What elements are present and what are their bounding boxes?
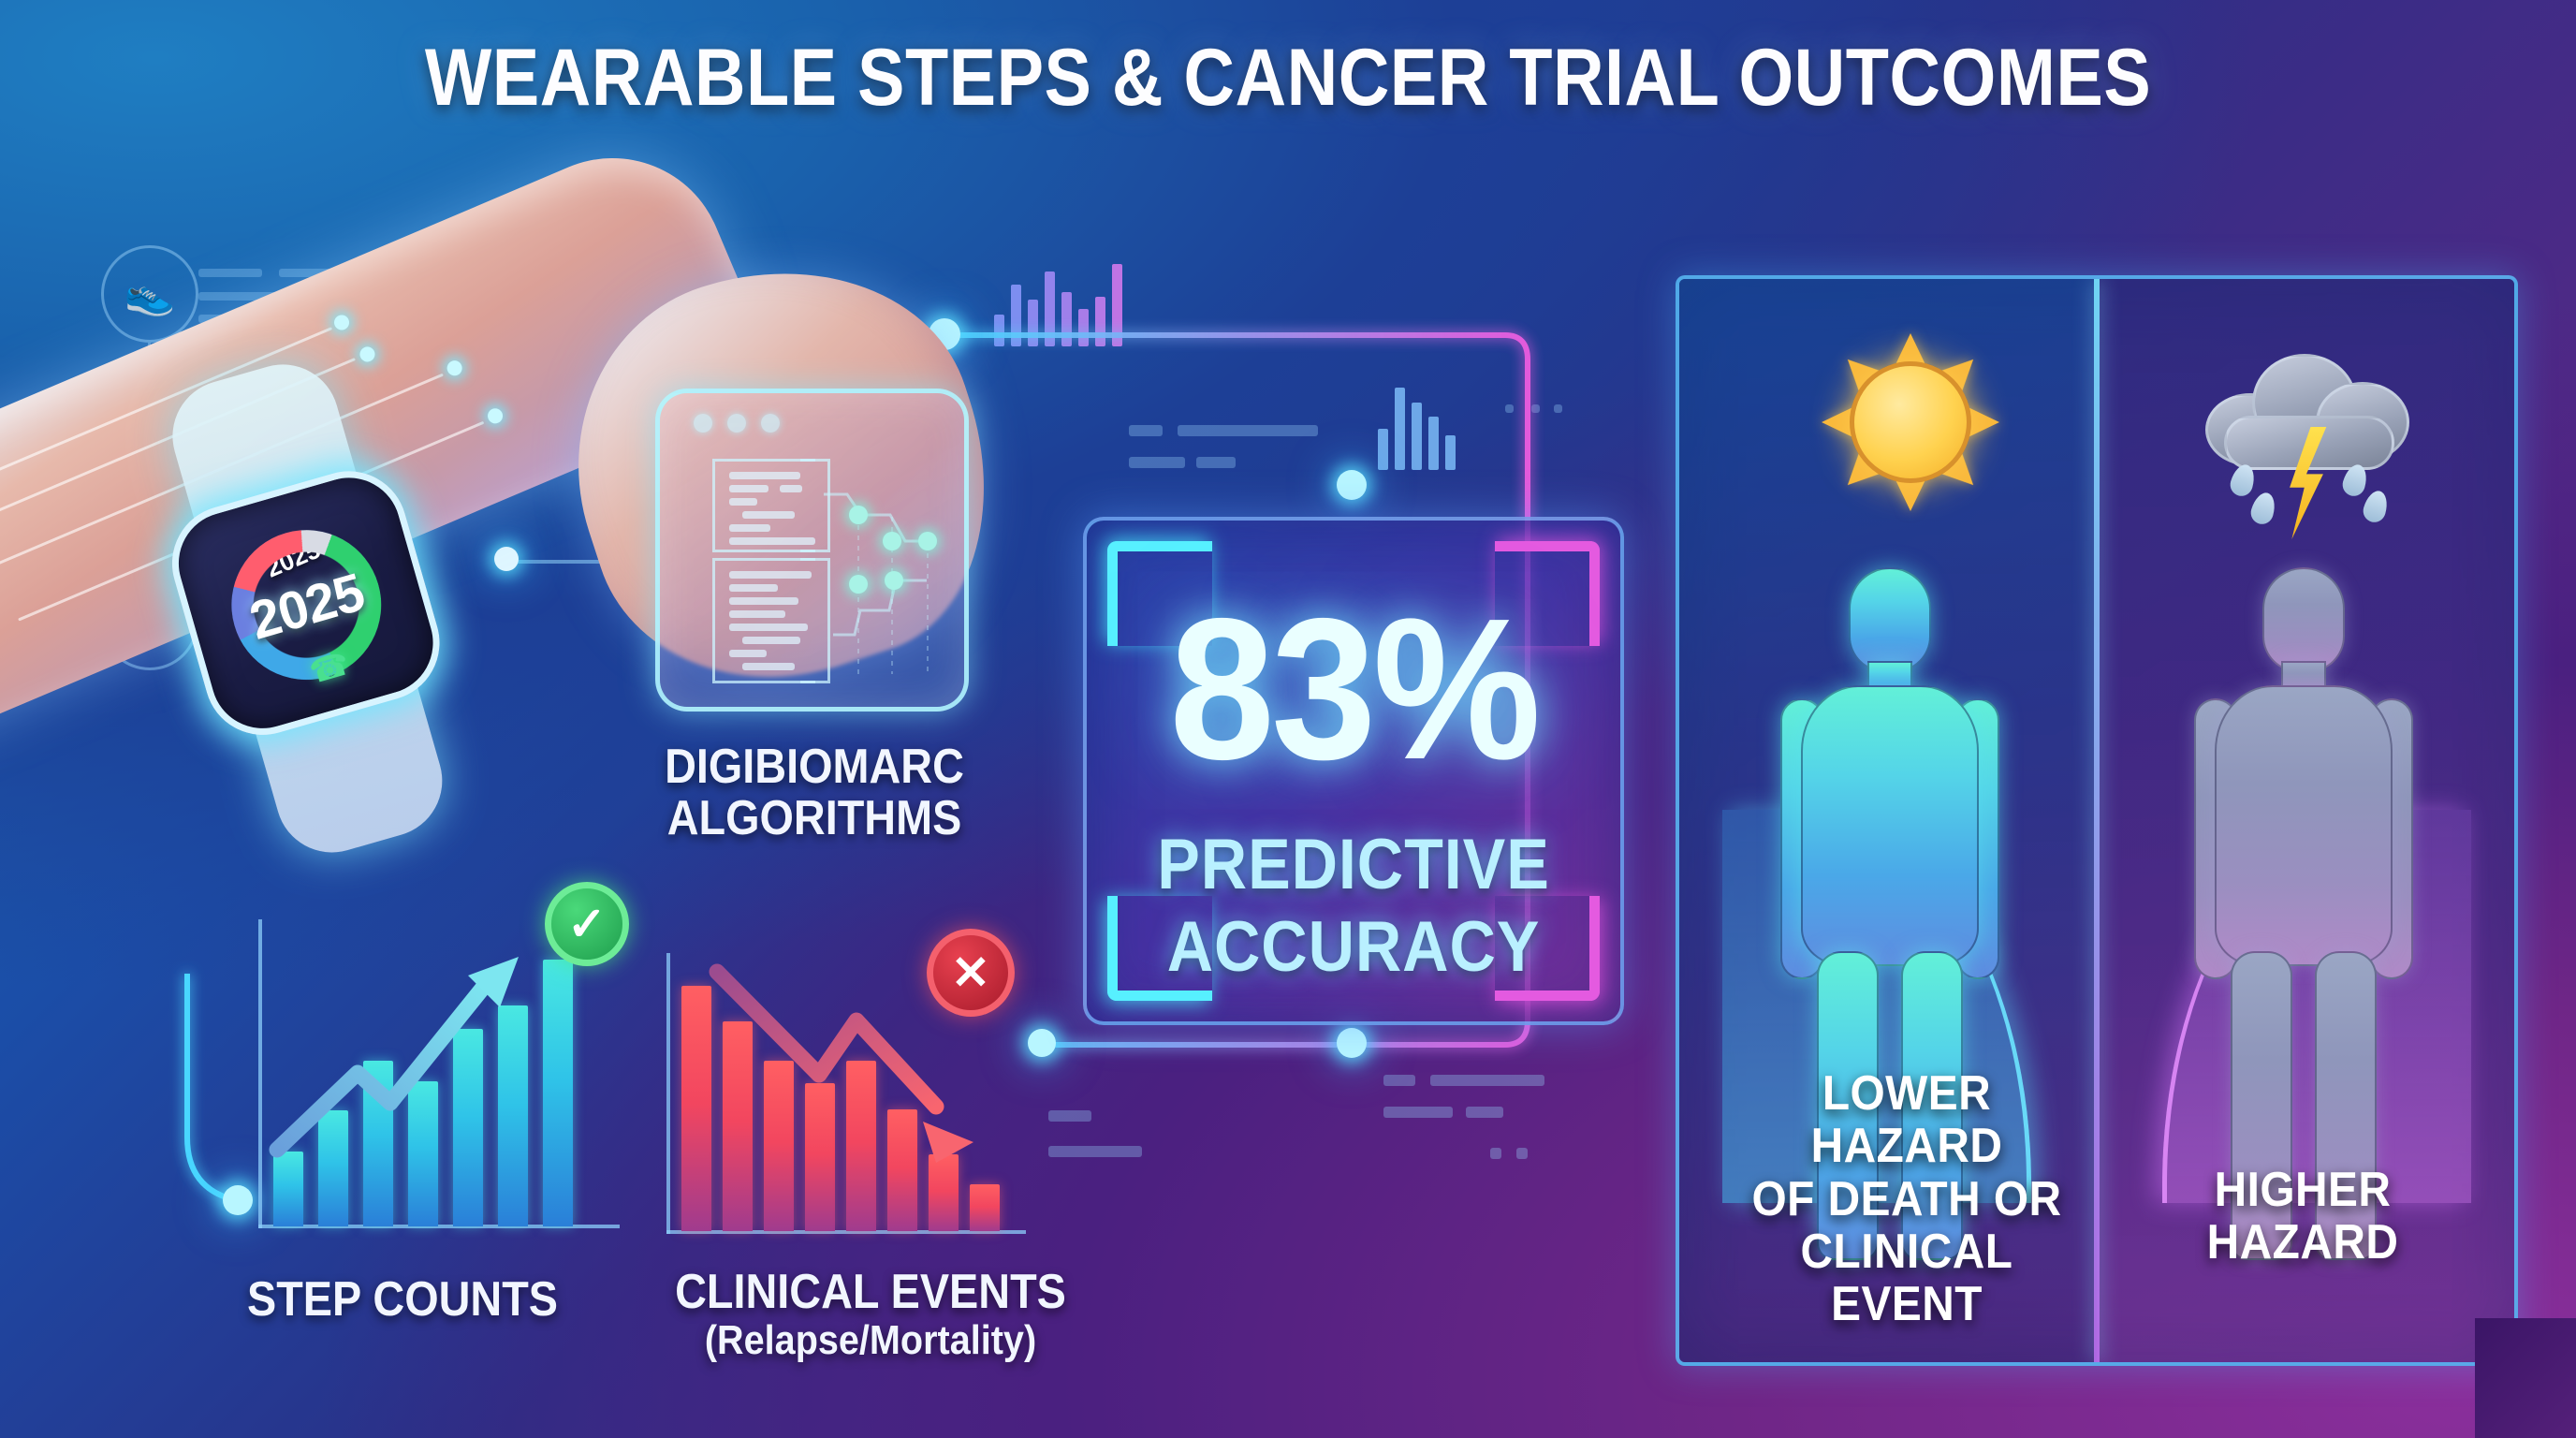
algorithms-caption: DIGIBIOMARC ALGORITHMS — [621, 741, 1008, 844]
clinical-events-chart: ✕ — [655, 936, 1030, 1266]
lower-hazard-line2: OF DEATH OR — [1721, 1173, 2092, 1225]
graph-node — [849, 575, 868, 594]
hud-sparkline-top — [994, 260, 1122, 346]
lower-hazard-line3: CLINICAL EVENT — [1721, 1225, 2092, 1330]
neon-node — [1337, 470, 1367, 500]
graph-node — [918, 532, 937, 550]
sun-core — [1850, 361, 1971, 483]
infographic-poster: WEARABLE STEPS & CANCER TRIAL OUTCOMES 👟… — [0, 0, 2576, 1438]
step-counts-chart: ✓ — [245, 899, 620, 1255]
hud-textline — [1531, 404, 1540, 413]
corner-accent-block — [2475, 1318, 2576, 1438]
algorithms-caption-line2: ALGORITHMS — [621, 793, 1008, 844]
page-title: WEARABLE STEPS & CANCER TRIAL OUTCOMES — [154, 37, 2422, 120]
algorithms-caption-line1: DIGIBIOMARC — [621, 741, 1008, 793]
figure-head — [1849, 567, 1931, 672]
predictive-accuracy-panel: 83% PREDICTIVE ACCURACY — [1083, 517, 1624, 1025]
hud-textline — [1383, 1107, 1453, 1118]
hud-textline — [1048, 1110, 1091, 1122]
algorithm-node-graph — [660, 393, 973, 716]
sun-icon — [1822, 333, 1999, 511]
hud-textline — [1196, 457, 1236, 468]
figure-head — [2262, 567, 2345, 672]
hud-textline — [1505, 404, 1514, 413]
graph-node — [849, 506, 868, 524]
hud-sparkline-mid — [1378, 384, 1456, 470]
hud-textline — [1554, 404, 1562, 413]
neon-node — [1337, 1028, 1367, 1058]
panel-divider — [2094, 279, 2100, 1362]
figure-torso — [2215, 685, 2393, 966]
hud-textline — [1466, 1107, 1503, 1118]
algorithm-window[interactable] — [655, 389, 969, 712]
outcome-comparison-panel: LOWER HAZARD OF DEATH OR CLINICAL EVENT … — [1676, 275, 2518, 1366]
hud-textline — [1178, 425, 1318, 436]
clinical-events-caption-line1: CLINICAL EVENTS — [651, 1266, 1090, 1318]
positive-check-badge: ✓ — [545, 882, 629, 966]
higher-hazard-label: HIGHER HAZARD — [2139, 1164, 2466, 1269]
accuracy-label-line2: ACCURACY — [1114, 912, 1594, 983]
circuit-node — [332, 313, 352, 332]
graph-node — [885, 571, 903, 590]
hud-textline — [1430, 1075, 1544, 1086]
hud-textline — [1516, 1148, 1528, 1159]
graph-node — [883, 532, 901, 550]
accuracy-value: 83% — [1103, 588, 1604, 789]
accuracy-label-line1: PREDICTIVE — [1114, 829, 1594, 901]
close-icon: ✕ — [951, 946, 990, 1000]
step-counts-caption: STEP COUNTS — [209, 1271, 596, 1328]
hud-textline — [1129, 457, 1185, 468]
negative-cross-badge: ✕ — [927, 929, 1015, 1017]
neon-node — [1028, 1029, 1056, 1057]
storm-cloud-icon — [2203, 341, 2419, 491]
hud-textline — [1048, 1146, 1142, 1157]
lower-hazard-line1: LOWER HAZARD — [1721, 1067, 2092, 1172]
hud-textline — [1490, 1148, 1501, 1159]
circuit-node — [445, 359, 464, 378]
lower-hazard-label: LOWER HAZARD OF DEATH OR CLINICAL EVENT — [1721, 1067, 2092, 1330]
higher-hazard-line1: HIGHER — [2139, 1164, 2466, 1216]
figure-torso — [1801, 685, 1979, 966]
circuit-node — [486, 406, 505, 426]
clinical-events-caption: CLINICAL EVENTS (Relapse/Mortality) — [651, 1266, 1090, 1363]
clinical-events-caption-line2: (Relapse/Mortality) — [651, 1318, 1090, 1363]
higher-hazard-line2: HAZARD — [2139, 1216, 2466, 1269]
hud-textline — [1383, 1075, 1415, 1086]
check-icon: ✓ — [567, 897, 607, 951]
hud-textline — [1129, 425, 1163, 436]
circuit-node — [358, 345, 377, 364]
